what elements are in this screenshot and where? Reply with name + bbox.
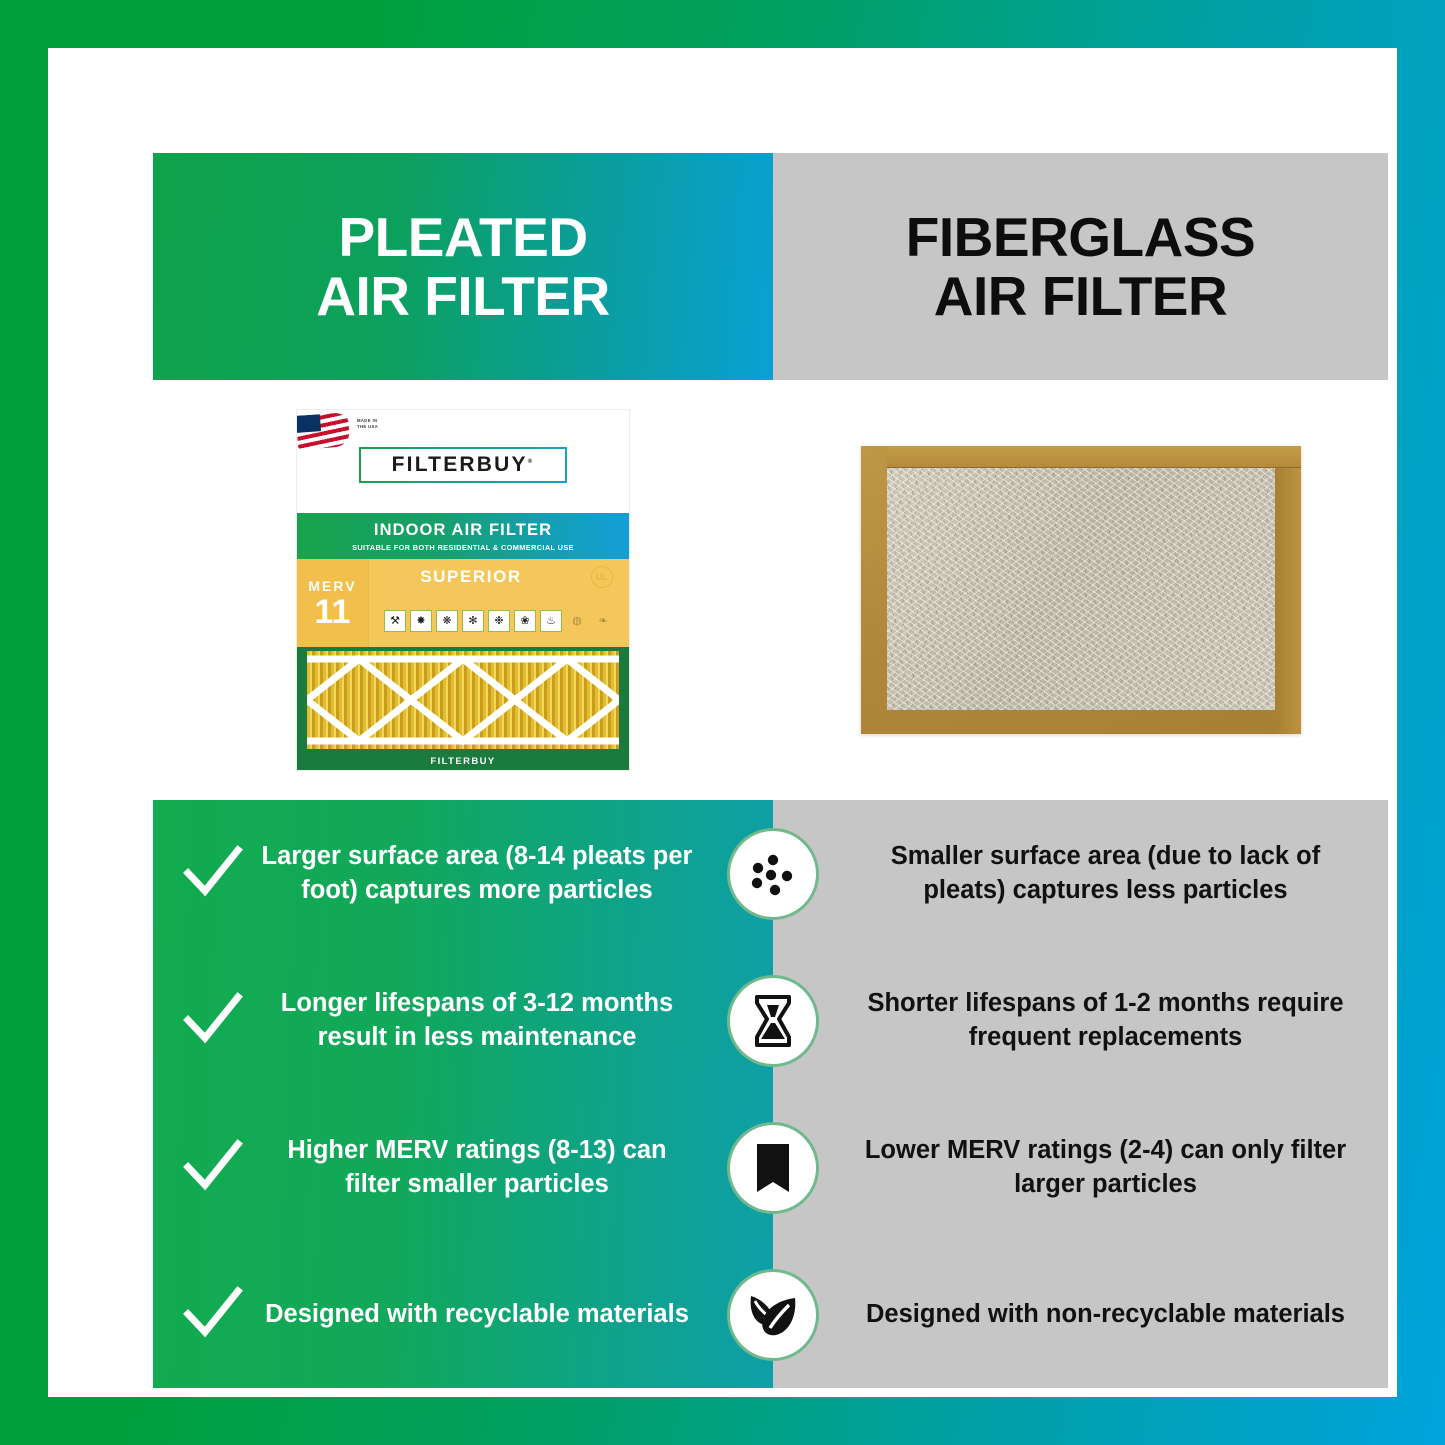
brand-logo-text: FILTERBUY®	[392, 453, 535, 477]
box-top-section: MADE IN THE USA FILTERBUY®	[297, 410, 629, 513]
infographic-page: PLEATED AIR FILTER FIBERGLASS AIR FILTER	[0, 0, 1445, 1445]
comparison-rows: Larger surface area (8-14 pleats per foo…	[153, 800, 1388, 1388]
leaf-glyph	[745, 1290, 801, 1340]
box-tier-area: SUPERIOR UL ⚒ ✸ ❋ ✻	[369, 559, 629, 647]
fiberglass-media	[887, 468, 1275, 710]
row-right-text: Shorter lifespans of 1-2 months require …	[773, 987, 1388, 1053]
mold-icon: ❉	[488, 610, 510, 632]
ul-mark-icon: UL	[591, 566, 613, 588]
box-filter-media: FILTERBUY	[297, 647, 629, 770]
box-tier-row: SUPERIOR UL	[369, 559, 629, 595]
comparison-row: Larger surface area (8-14 pleats per foo…	[153, 800, 1388, 947]
tier-label: SUPERIOR	[369, 567, 573, 587]
filterbuy-box-image: MADE IN THE USA FILTERBUY® INDOOR AIR FI…	[297, 410, 629, 770]
merv-value: 11	[315, 595, 351, 629]
pleated-product-cell: MADE IN THE USA FILTERBUY® INDOOR AIR FI…	[153, 380, 773, 800]
checkmark-icon	[183, 1286, 243, 1344]
comparison-content: PLEATED AIR FILTER FIBERGLASS AIR FILTER	[153, 153, 1388, 1388]
bookmark-glyph	[751, 1141, 795, 1195]
ul-certification: UL	[573, 559, 629, 594]
row-left-text: Longer lifespans of 3-12 months result i…	[259, 987, 695, 1053]
header-fiberglass-line2: AIR FILTER	[906, 267, 1255, 326]
comparison-row: Designed with recyclable materials Desig…	[153, 1241, 1388, 1388]
fiberglass-product-cell	[773, 380, 1388, 800]
box-merv-section: MERV 11 SUPERIOR UL	[297, 559, 629, 647]
hourglass-icon	[727, 975, 819, 1067]
product-images-row: MADE IN THE USA FILTERBUY® INDOOR AIR FI…	[153, 380, 1388, 800]
checkmark-icon	[183, 1139, 243, 1197]
made-in-usa-label: MADE IN THE USA	[357, 418, 378, 431]
box-footer-brand: FILTERBUY	[297, 756, 629, 767]
row-right-text: Lower MERV ratings (2-4) can only filter…	[773, 1134, 1388, 1200]
fiberglass-frame-right	[1275, 468, 1301, 734]
smoke-icon: ♨	[540, 610, 562, 632]
dust-icon: ⚒	[384, 610, 406, 632]
box-feature-icons: ⚒ ✸ ❋ ✻ ❉ ❀ ♨ ◍ ❧	[369, 595, 629, 647]
bacteria-icon: ✸	[410, 610, 432, 632]
usa-flag-icon	[297, 412, 350, 450]
comparison-row: Higher MERV ratings (8-13) can filter sm…	[153, 1094, 1388, 1241]
filter-support-mesh	[307, 651, 619, 749]
pollen-icon: ✻	[462, 610, 484, 632]
header-pleated: PLEATED AIR FILTER	[153, 153, 773, 380]
row-left-text: Designed with recyclable materials	[259, 1298, 695, 1331]
checkmark-icon	[183, 992, 243, 1050]
fiberglass-filter-image	[861, 446, 1301, 734]
row-right-text: Smaller surface area (due to lack of ple…	[773, 840, 1388, 906]
merv-badge: MERV 11	[297, 559, 369, 647]
fiberglass-fiber-texture	[887, 468, 1275, 710]
particles-glyph	[746, 847, 800, 901]
row-left-text: Higher MERV ratings (8-13) can filter sm…	[259, 1134, 695, 1200]
row-left-cell: Higher MERV ratings (8-13) can filter sm…	[153, 1134, 773, 1200]
header-pleated-line2: AIR FILTER	[316, 267, 609, 326]
merv-label: MERV	[308, 578, 356, 594]
header-fiberglass: FIBERGLASS AIR FILTER	[773, 153, 1388, 380]
fiberglass-frame-top	[887, 446, 1301, 468]
virus-icon: ❋	[436, 610, 458, 632]
comparison-rows-band: Larger surface area (8-14 pleats per foo…	[153, 800, 1388, 1388]
comparison-row: Longer lifespans of 3-12 months result i…	[153, 947, 1388, 1094]
header-fiberglass-title: FIBERGLASS AIR FILTER	[906, 208, 1255, 326]
box-indoor-band: INDOOR AIR FILTER SUITABLE FOR BOTH RESI…	[297, 513, 629, 559]
brand-logo-frame: FILTERBUY®	[359, 447, 567, 483]
inner-white-panel: PLEATED AIR FILTER FIBERGLASS AIR FILTER	[48, 48, 1397, 1397]
hourglass-glyph	[749, 993, 797, 1049]
particles-icon	[727, 828, 819, 920]
header-pleated-title: PLEATED AIR FILTER	[316, 208, 609, 326]
leaf-icon	[727, 1269, 819, 1361]
box-band-subtitle: SUITABLE FOR BOTH RESIDENTIAL & COMMERCI…	[352, 543, 574, 552]
row-left-cell: Larger surface area (8-14 pleats per foo…	[153, 840, 773, 906]
header-row: PLEATED AIR FILTER FIBERGLASS AIR FILTER	[153, 153, 1388, 380]
row-left-text: Larger surface area (8-14 pleats per foo…	[259, 840, 695, 906]
header-pleated-line1: PLEATED	[316, 208, 609, 267]
checkmark-icon	[183, 845, 243, 903]
bookmark-icon	[727, 1122, 819, 1214]
header-fiberglass-line1: FIBERGLASS	[906, 208, 1255, 267]
row-left-cell: Longer lifespans of 3-12 months result i…	[153, 987, 773, 1053]
row-left-cell: Designed with recyclable materials	[153, 1286, 773, 1344]
odor-icon: ❧	[592, 610, 614, 632]
pet-dander-icon: ❀	[514, 610, 536, 632]
row-right-text: Designed with non-recyclable materials	[773, 1298, 1388, 1331]
pill-icon: ◍	[566, 610, 588, 632]
box-band-title: INDOOR AIR FILTER	[374, 521, 552, 540]
